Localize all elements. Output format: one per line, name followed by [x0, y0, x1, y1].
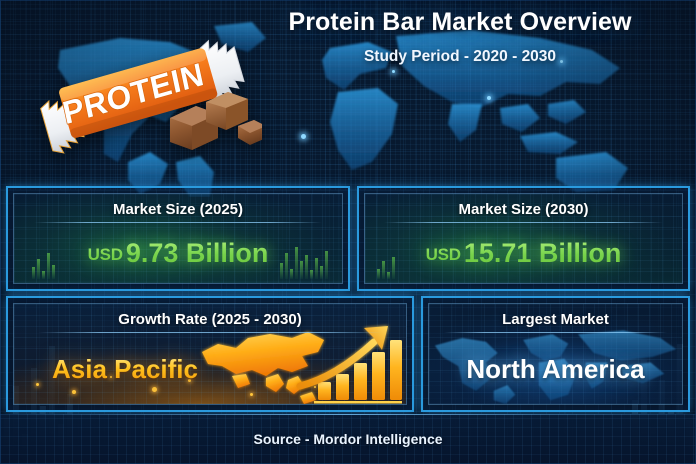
card-market-size-2030[interactable]: Market Size (2030) USD15.71 Billion: [357, 186, 690, 291]
footer: Source - Mordor Intelligence: [0, 414, 696, 464]
page-title: Protein Bar Market Overview: [236, 8, 684, 37]
card-value: USD15.71 Billion: [426, 240, 622, 267]
card-value: Asia Pacific: [52, 356, 198, 382]
card-market-size-2025[interactable]: Market Size (2025) USD9.73 Billion: [6, 186, 350, 291]
currency-label: USD: [88, 245, 123, 264]
stat-cards-row-bottom: Growth Rate (2025 - 2030) Asia Pacific: [6, 296, 690, 412]
card-inner-border: Market Size (2025) USD9.73 Billion: [13, 193, 343, 284]
stat-cards: Market Size (2025) USD9.73 Billion: [6, 186, 690, 412]
card-value: USD9.73 Billion: [88, 240, 269, 267]
card-content: Market Size (2025) USD9.73 Billion: [14, 194, 342, 283]
card-title: Largest Market: [429, 304, 682, 333]
protein-bar-icon: PROTEIN: [22, 22, 262, 162]
card-title: Growth Rate (2025 - 2030): [14, 304, 406, 333]
value-number: 9.73 Billion: [126, 238, 269, 268]
card-content: Largest Market North America: [429, 304, 682, 404]
card-largest-market[interactable]: Largest Market North America: [421, 296, 690, 412]
card-value: North America: [466, 356, 644, 382]
card-title: Market Size (2025): [14, 194, 342, 223]
value-number: 15.71 Billion: [464, 238, 622, 268]
card-value-area: USD15.71 Billion: [365, 223, 682, 283]
card-value-area: Asia Pacific: [14, 333, 406, 404]
card-content: Growth Rate (2025 - 2030) Asia Pacific: [14, 304, 406, 404]
currency-label: USD: [426, 245, 461, 264]
card-content: Market Size (2030) USD15.71 Billion: [365, 194, 682, 283]
card-inner-border: Market Size (2030) USD15.71 Billion: [364, 193, 683, 284]
card-growth-rate[interactable]: Growth Rate (2025 - 2030) Asia Pacific: [6, 296, 414, 412]
card-inner-border: Largest Market North America: [428, 303, 683, 405]
card-value-area: North America: [429, 333, 682, 404]
card-title: Market Size (2030): [365, 194, 682, 223]
header: Protein Bar Market Overview Study Period…: [236, 8, 684, 66]
study-period-subtitle: Study Period - 2020 - 2030: [236, 48, 684, 66]
source-label: Source - Mordor Intelligence: [253, 431, 442, 447]
card-value-area: USD9.73 Billion: [14, 223, 342, 283]
infographic-canvas: Protein Bar Market Overview Study Period…: [0, 0, 696, 464]
stat-cards-row-top: Market Size (2025) USD9.73 Billion: [6, 186, 690, 291]
card-inner-border: Growth Rate (2025 - 2030) Asia Pacific: [13, 303, 407, 405]
